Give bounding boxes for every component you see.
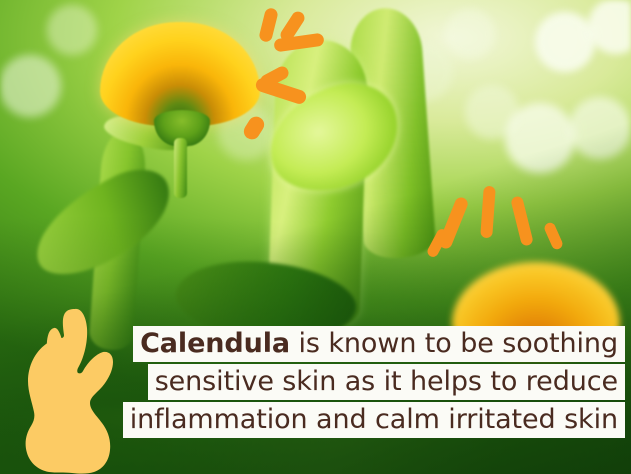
ray-lower-4 bbox=[510, 195, 534, 246]
ray-lower-2 bbox=[437, 196, 469, 251]
caption-line-3: inflammation and calm irritated skin bbox=[123, 402, 625, 438]
caption-lead-word: Calendula bbox=[140, 328, 290, 359]
caption-line-1-rest: is known to be soothing bbox=[290, 328, 618, 359]
caption-line-2: sensitive skin as it helps to reduce bbox=[148, 364, 625, 400]
poster-image: Calendula is known to be soothing sensit… bbox=[0, 0, 631, 474]
ray-lower-5 bbox=[543, 221, 564, 251]
caption-block: Calendula is known to be soothing sensit… bbox=[0, 326, 631, 438]
caption-line-1: Calendula is known to be soothing bbox=[133, 326, 625, 362]
ray-top-1 bbox=[258, 7, 279, 43]
flower-stem bbox=[174, 138, 187, 198]
ray-lower-3 bbox=[480, 186, 496, 239]
calendula-flower bbox=[100, 22, 260, 172]
